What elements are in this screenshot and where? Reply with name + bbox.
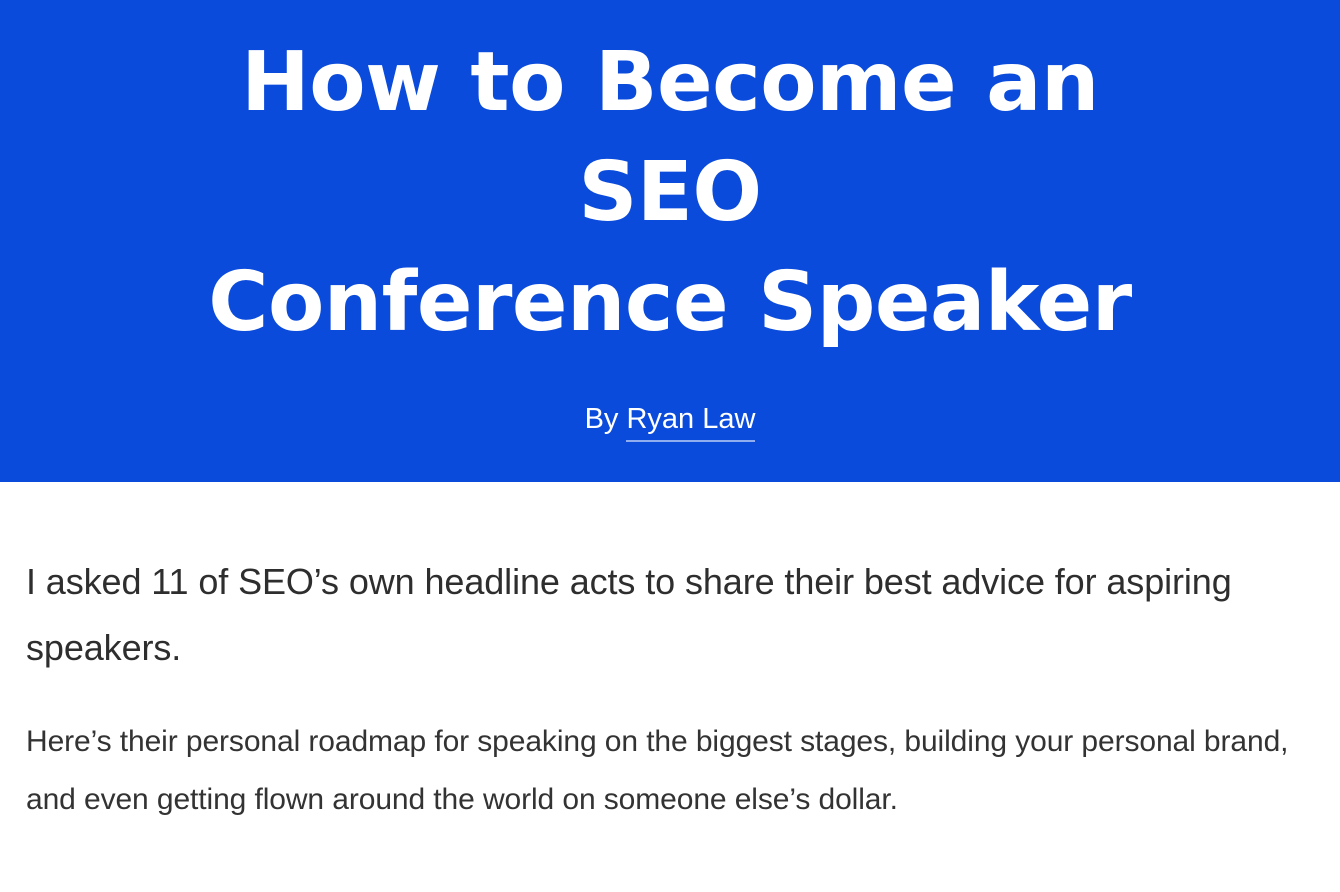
square-bullet-icon (695, 501, 704, 510)
article-body: I asked 11 of SEO’s own headline acts to… (0, 549, 1340, 829)
author-link[interactable]: Ryan Law (626, 403, 755, 442)
page-title-line-1: How to Become an SEO (241, 35, 1099, 240)
byline-label: By (585, 403, 627, 435)
byline: By Ryan Law (585, 402, 756, 436)
article-meta: August 19, 2024 14 min read (449, 488, 890, 522)
page-title: How to Become an SEO Conference Speaker (140, 28, 1200, 358)
article-hero-banner: How to Become an SEO Conference Speaker … (0, 0, 1340, 482)
article-lede: I asked 11 of SEO’s own headline acts to… (26, 549, 1314, 681)
page-title-line-2: Conference Speaker (208, 255, 1131, 350)
publish-date: August 19, 2024 (449, 488, 660, 522)
read-time: 14 min read (738, 488, 891, 522)
article-paragraph: Here’s their personal roadmap for speaki… (26, 713, 1314, 829)
